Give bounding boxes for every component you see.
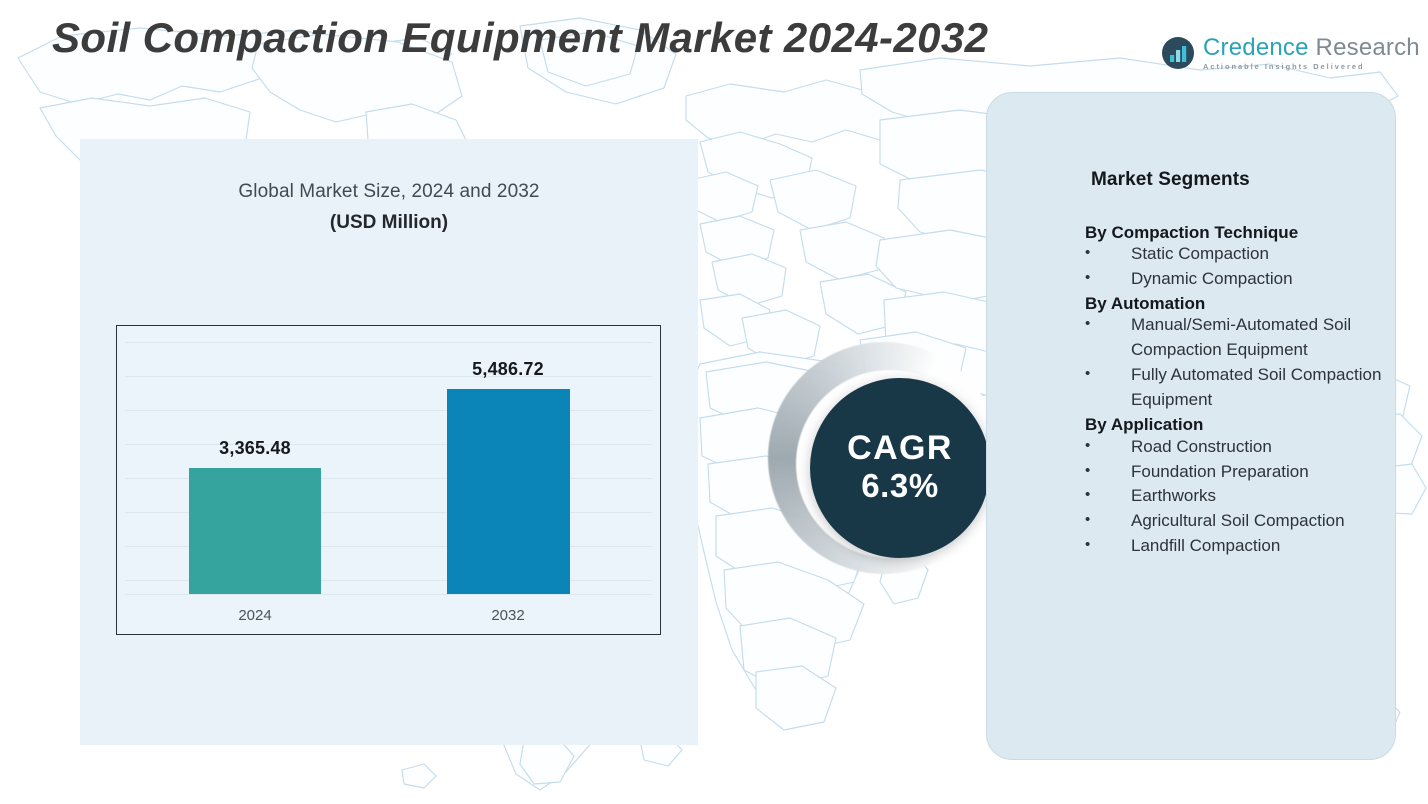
segment-list-item: •Fully Automated Soil Compaction Equipme… (1085, 363, 1385, 413)
bullet-icon: • (1085, 242, 1090, 264)
segment-item-label: Earthworks (1131, 486, 1216, 505)
logo-word-credence: Credence (1203, 34, 1309, 61)
bar-value-label-2024: 3,365.48 (160, 438, 350, 459)
bullet-icon: • (1085, 534, 1090, 556)
bullet-icon: • (1085, 267, 1090, 289)
segment-item-label: Road Construction (1131, 437, 1272, 456)
bullet-icon: • (1085, 435, 1090, 457)
bullet-icon: • (1085, 313, 1090, 335)
market-segments-panel: Market Segments By Compaction Technique•… (986, 92, 1396, 760)
segment-group-heading: By Application (1085, 415, 1385, 434)
chart-title: Global Market Size, 2024 and 2032 (80, 181, 698, 203)
segment-list-item: •Static Compaction (1085, 242, 1385, 267)
segment-group-heading: By Compaction Technique (1085, 223, 1385, 242)
market-segments-list: By Compaction Technique•Static Compactio… (1085, 221, 1385, 559)
segment-item-label: Agricultural Soil Compaction (1131, 511, 1345, 530)
segment-list-item: •Earthworks (1085, 484, 1385, 509)
logo-word-research: Research (1309, 34, 1420, 61)
segment-item-label: Dynamic Compaction (1131, 269, 1293, 288)
logo-wordmark: Credence Research (1203, 34, 1420, 61)
bullet-icon: • (1085, 363, 1090, 385)
segment-list-item: •Dynamic Compaction (1085, 267, 1385, 292)
segment-item-label: Foundation Preparation (1131, 462, 1309, 481)
gridline (125, 594, 652, 595)
bar-value-label-2032: 5,486.72 (413, 359, 603, 380)
bar-2024[interactable] (189, 468, 321, 594)
segment-list-item: •Road Construction (1085, 435, 1385, 460)
page-title: Soil Compaction Equipment Market 2024-20… (52, 14, 988, 62)
x-axis-label-2024: 2024 (160, 607, 350, 624)
logo-tagline: Actionable Insights Delivered (1203, 63, 1420, 70)
x-axis-label-2032: 2032 (413, 607, 603, 624)
segment-item-label: Static Compaction (1131, 244, 1269, 263)
cagr-badge: CAGR 6.3% (762, 336, 1022, 586)
bullet-icon: • (1085, 509, 1090, 531)
cagr-label: CAGR (847, 431, 953, 467)
bar-2032[interactable] (447, 389, 570, 594)
segment-item-label: Fully Automated Soil Compaction Equipmen… (1131, 365, 1381, 409)
brand-logo: Credence Research Actionable Insights De… (1161, 30, 1406, 76)
segment-list-item: •Landfill Compaction (1085, 534, 1385, 559)
segment-list-item: •Agricultural Soil Compaction (1085, 509, 1385, 534)
segment-item-label: Manual/Semi-Automated Soil Compaction Eq… (1131, 315, 1351, 359)
cagr-circle: CAGR 6.3% (810, 378, 990, 558)
segment-list-item: •Foundation Preparation (1085, 460, 1385, 485)
chart-plot-area: 3,365.48 2024 5,486.72 2032 (116, 325, 661, 635)
segment-group-heading: By Automation (1085, 294, 1385, 313)
chart-bars-circle-icon (1161, 36, 1195, 70)
bullet-icon: • (1085, 460, 1090, 482)
cagr-value: 6.3% (861, 467, 939, 505)
bullet-icon: • (1085, 484, 1090, 506)
segment-item-label: Landfill Compaction (1131, 536, 1280, 555)
header: Soil Compaction Equipment Market 2024-20… (0, 0, 1428, 92)
market-segments-title: Market Segments (1091, 169, 1250, 191)
market-size-chart: Global Market Size, 2024 and 2032 (USD M… (80, 139, 698, 745)
gridline (125, 342, 652, 343)
chart-subtitle: (USD Million) (80, 212, 698, 234)
gridline (125, 410, 652, 411)
segment-list-item: •Manual/Semi-Automated Soil Compaction E… (1085, 313, 1385, 363)
